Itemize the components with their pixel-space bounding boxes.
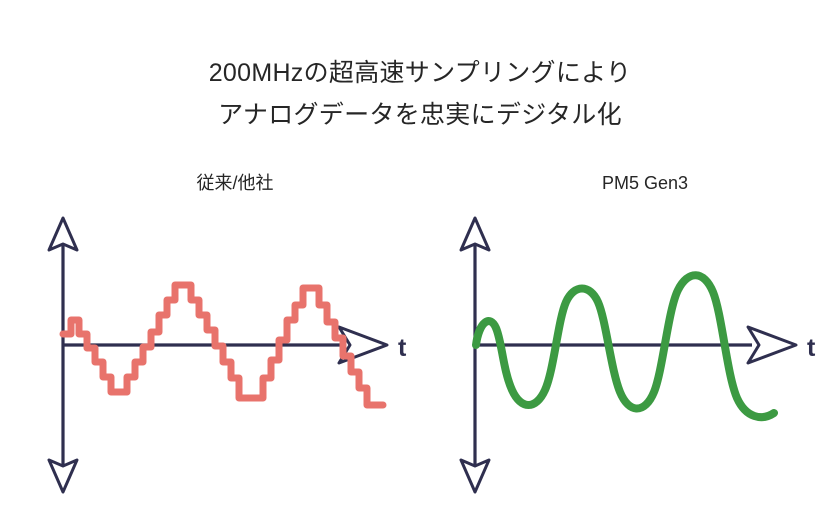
y-axis-down-arrowhead-right <box>461 460 489 492</box>
y-axis-up-arrowhead-left <box>49 218 77 250</box>
axes-group-right: t <box>461 218 816 492</box>
x-axis-label-left: t <box>398 334 407 362</box>
y-axis-up-arrowhead-right <box>461 218 489 250</box>
title-line-1: 200MHzの超高速サンプリングにより <box>0 52 840 94</box>
panel-label-pm5: PM5 Gen3 <box>500 172 790 194</box>
chart-pm5-analog: t <box>440 210 840 500</box>
x-axis-right-arrowhead-right <box>748 327 796 363</box>
title-line-2: アナログデータを忠実にデジタル化 <box>0 94 840 136</box>
panel-label-legacy: 従来/他社 <box>90 172 380 194</box>
x-axis-label-right: t <box>807 334 816 362</box>
slide-canvas: 200MHzの超高速サンプリングにより アナログデータを忠実にデジタル化 従来/… <box>0 0 840 526</box>
chart-legacy-quantized: t <box>30 210 430 500</box>
y-axis-down-arrowhead-left <box>49 460 77 492</box>
page-title: 200MHzの超高速サンプリングにより アナログデータを忠実にデジタル化 <box>0 52 840 136</box>
